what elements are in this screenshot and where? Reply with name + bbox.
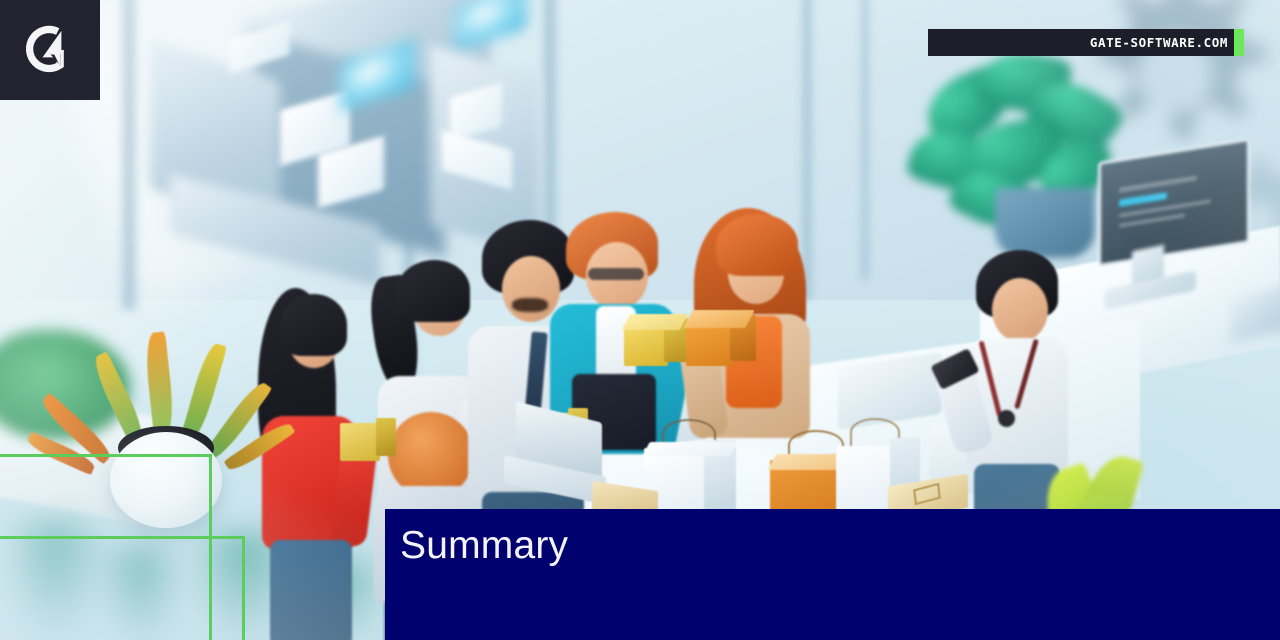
green-frame-lower bbox=[0, 536, 245, 640]
slide-canvas: GATE-SOFTWARE.COM Summary bbox=[0, 0, 1280, 640]
url-watermark-text: GATE-SOFTWARE.COM bbox=[1090, 35, 1244, 50]
yellow-parcel-box bbox=[340, 414, 396, 462]
url-watermark-bar: GATE-SOFTWARE.COM bbox=[928, 29, 1244, 56]
orange-parcel-box bbox=[686, 310, 756, 368]
window-mullion bbox=[860, 0, 870, 280]
gate-g-logo-icon bbox=[24, 24, 76, 76]
plant-pot-background bbox=[995, 188, 1095, 258]
url-accent-strip bbox=[1234, 29, 1244, 56]
yellow-parcel-box bbox=[624, 314, 688, 368]
brand-logo-badge[interactable] bbox=[0, 0, 100, 100]
page-title: Summary bbox=[400, 526, 568, 567]
window-mullion bbox=[118, 0, 140, 310]
summary-banner: Summary bbox=[385, 509, 1280, 640]
